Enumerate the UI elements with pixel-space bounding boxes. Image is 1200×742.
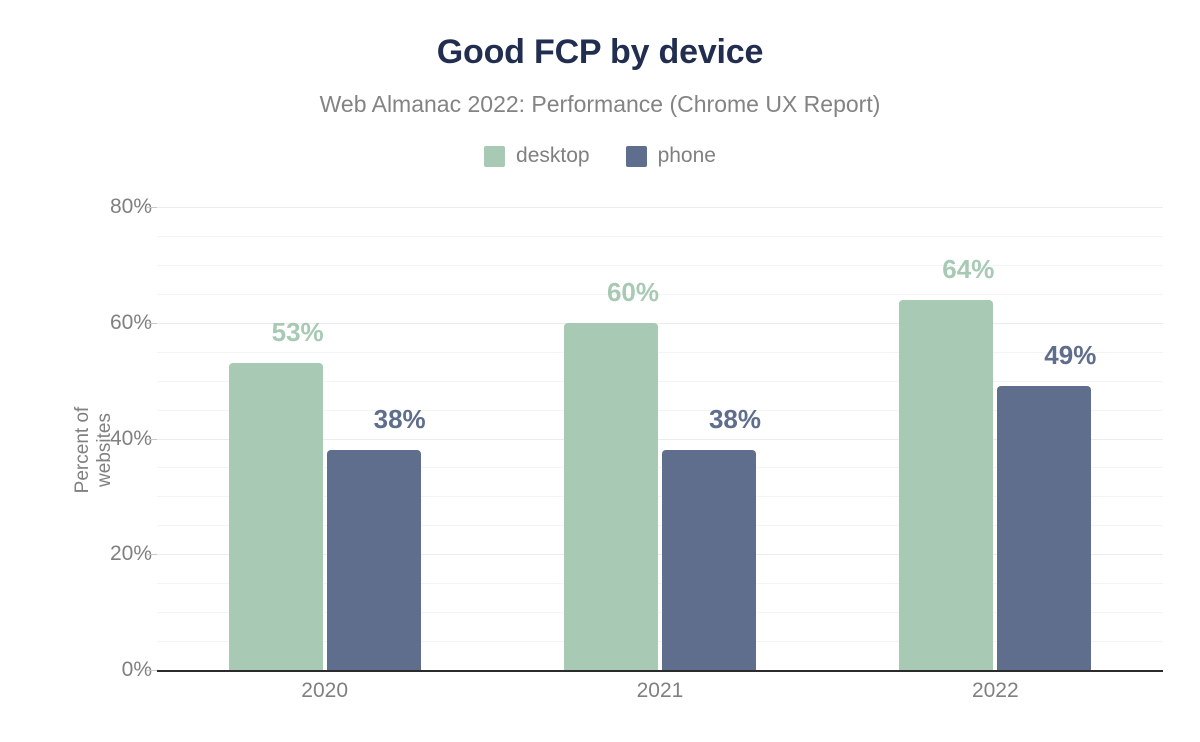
legend-label-phone: phone bbox=[658, 144, 716, 168]
gridline-minor bbox=[157, 352, 1163, 353]
gridline-minor bbox=[157, 236, 1163, 237]
y-axis-tick-mark bbox=[146, 439, 157, 440]
y-axis-tick-mark bbox=[146, 207, 157, 208]
y-axis-tick-mark bbox=[146, 670, 157, 671]
legend-item-desktop[interactable]: desktop bbox=[484, 144, 590, 168]
y-axis-tick-mark bbox=[146, 554, 157, 555]
bar-desktop-2022[interactable] bbox=[899, 300, 993, 670]
bar-phone-2021[interactable] bbox=[662, 450, 756, 670]
bar-desktop-2020[interactable] bbox=[229, 363, 323, 670]
gridline-major bbox=[157, 207, 1163, 208]
bar-label-desktop-2021: 60% bbox=[586, 277, 680, 307]
chart-title: Good FCP by device bbox=[0, 30, 1200, 74]
chart-legend: desktop phone bbox=[0, 142, 1200, 170]
bar-label-desktop-2020: 53% bbox=[251, 317, 345, 347]
x-axis-tick-label: 2020 bbox=[157, 678, 492, 704]
bar-desktop-2021[interactable] bbox=[564, 323, 658, 670]
bar-label-phone-2020: 38% bbox=[353, 404, 447, 434]
plot-area: 53%38%60%38%64%49% bbox=[157, 207, 1163, 670]
bar-label-phone-2022: 49% bbox=[1023, 340, 1117, 370]
legend-swatch-phone bbox=[626, 146, 647, 167]
bar-phone-2020[interactable] bbox=[327, 450, 421, 670]
legend-label-desktop: desktop bbox=[516, 144, 590, 168]
chart-subtitle: Web Almanac 2022: Performance (Chrome UX… bbox=[0, 88, 1200, 120]
y-axis-tick-mark bbox=[146, 323, 157, 324]
chart-container: Good FCP by device Web Almanac 2022: Per… bbox=[0, 0, 1200, 742]
x-axis-tick-label: 2022 bbox=[828, 678, 1163, 704]
bar-label-phone-2021: 38% bbox=[688, 404, 782, 434]
x-axis-baseline bbox=[157, 670, 1163, 672]
x-axis-tick-label: 2021 bbox=[492, 678, 827, 704]
legend-item-phone[interactable]: phone bbox=[626, 144, 716, 168]
y-axis-title: Percent of websites bbox=[72, 370, 112, 530]
bar-label-desktop-2022: 64% bbox=[921, 254, 1015, 284]
legend-swatch-desktop bbox=[484, 146, 505, 167]
bar-phone-2022[interactable] bbox=[997, 386, 1091, 670]
